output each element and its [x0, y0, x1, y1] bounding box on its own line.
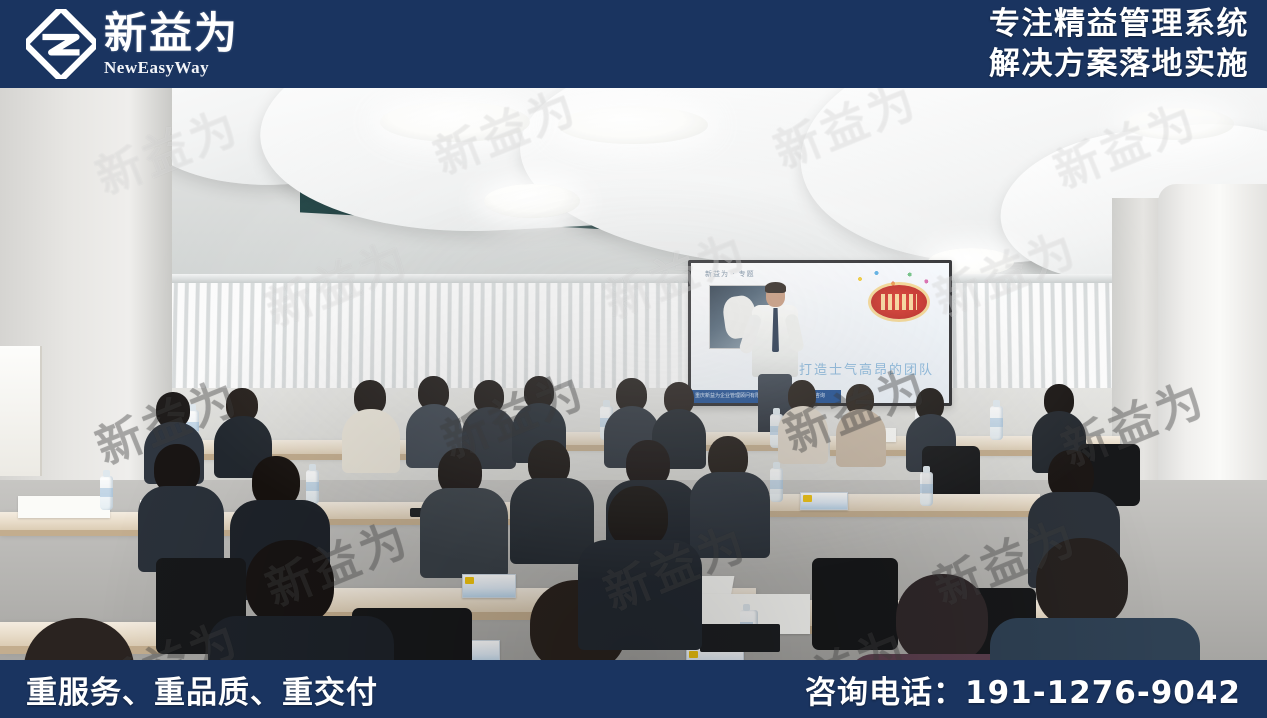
diamond-logo-icon: [26, 9, 96, 79]
ceiling-light: [1124, 108, 1234, 140]
slide-headline: 打造士气高昂的团队: [799, 359, 934, 378]
water-bottle: [306, 470, 319, 504]
name-placard: [462, 574, 516, 598]
header-banner: 新益为 NewEasyWay 专注精益管理系统 解决方案落地实施: [0, 0, 1267, 88]
blinds-rail: [105, 274, 1205, 283]
water-bottle: [770, 468, 783, 502]
footer-banner: 重服务、重品质、重交付 咨询电话：191-1276-9042: [0, 660, 1267, 718]
paper-sheet: [18, 496, 110, 518]
presentation-screen: 新益为 · 专题 打造士气高昂的团队 重庆新益为企业管理顾问有限公司 | 专注精…: [688, 260, 952, 406]
table-edge: [740, 511, 1040, 517]
brand-name-cn: 新益为: [104, 13, 239, 56]
slide-badge: [871, 285, 927, 319]
water-bottle: [920, 472, 933, 506]
water-bottle: [990, 406, 1003, 440]
name-placard: [800, 492, 848, 510]
ceiling-light: [380, 102, 530, 142]
water-bottle: [100, 476, 113, 510]
ceiling-light: [484, 184, 580, 218]
service-promise: 重服务、重品质、重交付: [26, 660, 378, 718]
brand-logo[interactable]: 新益为 NewEasyWay: [26, 8, 239, 80]
ceiling: [0, 88, 1267, 303]
presenter-hair: [765, 282, 786, 293]
brand-name-en: NewEasyWay: [104, 59, 239, 76]
header-slogan: 专注精益管理系统 解决方案落地实施: [989, 4, 1249, 84]
marketing-promo-card: 新益为 · 专题 打造士气高昂的团队 重庆新益为企业管理顾问有限公司 | 专注精…: [0, 0, 1267, 718]
flipchart: [0, 346, 42, 476]
slogan-line-1: 专注精益管理系统: [989, 4, 1249, 44]
contact-phone[interactable]: 咨询电话：191-1276-9042: [805, 660, 1241, 718]
laptop: [700, 624, 780, 652]
ceiling-light: [558, 106, 708, 144]
slogan-line-2: 解决方案落地实施: [989, 44, 1249, 84]
slide-title: 新益为 · 专题: [705, 269, 755, 279]
training-session-photo: 新益为 · 专题 打造士气高昂的团队 重庆新益为企业管理顾问有限公司 | 专注精…: [0, 88, 1267, 660]
chair: [812, 558, 898, 650]
